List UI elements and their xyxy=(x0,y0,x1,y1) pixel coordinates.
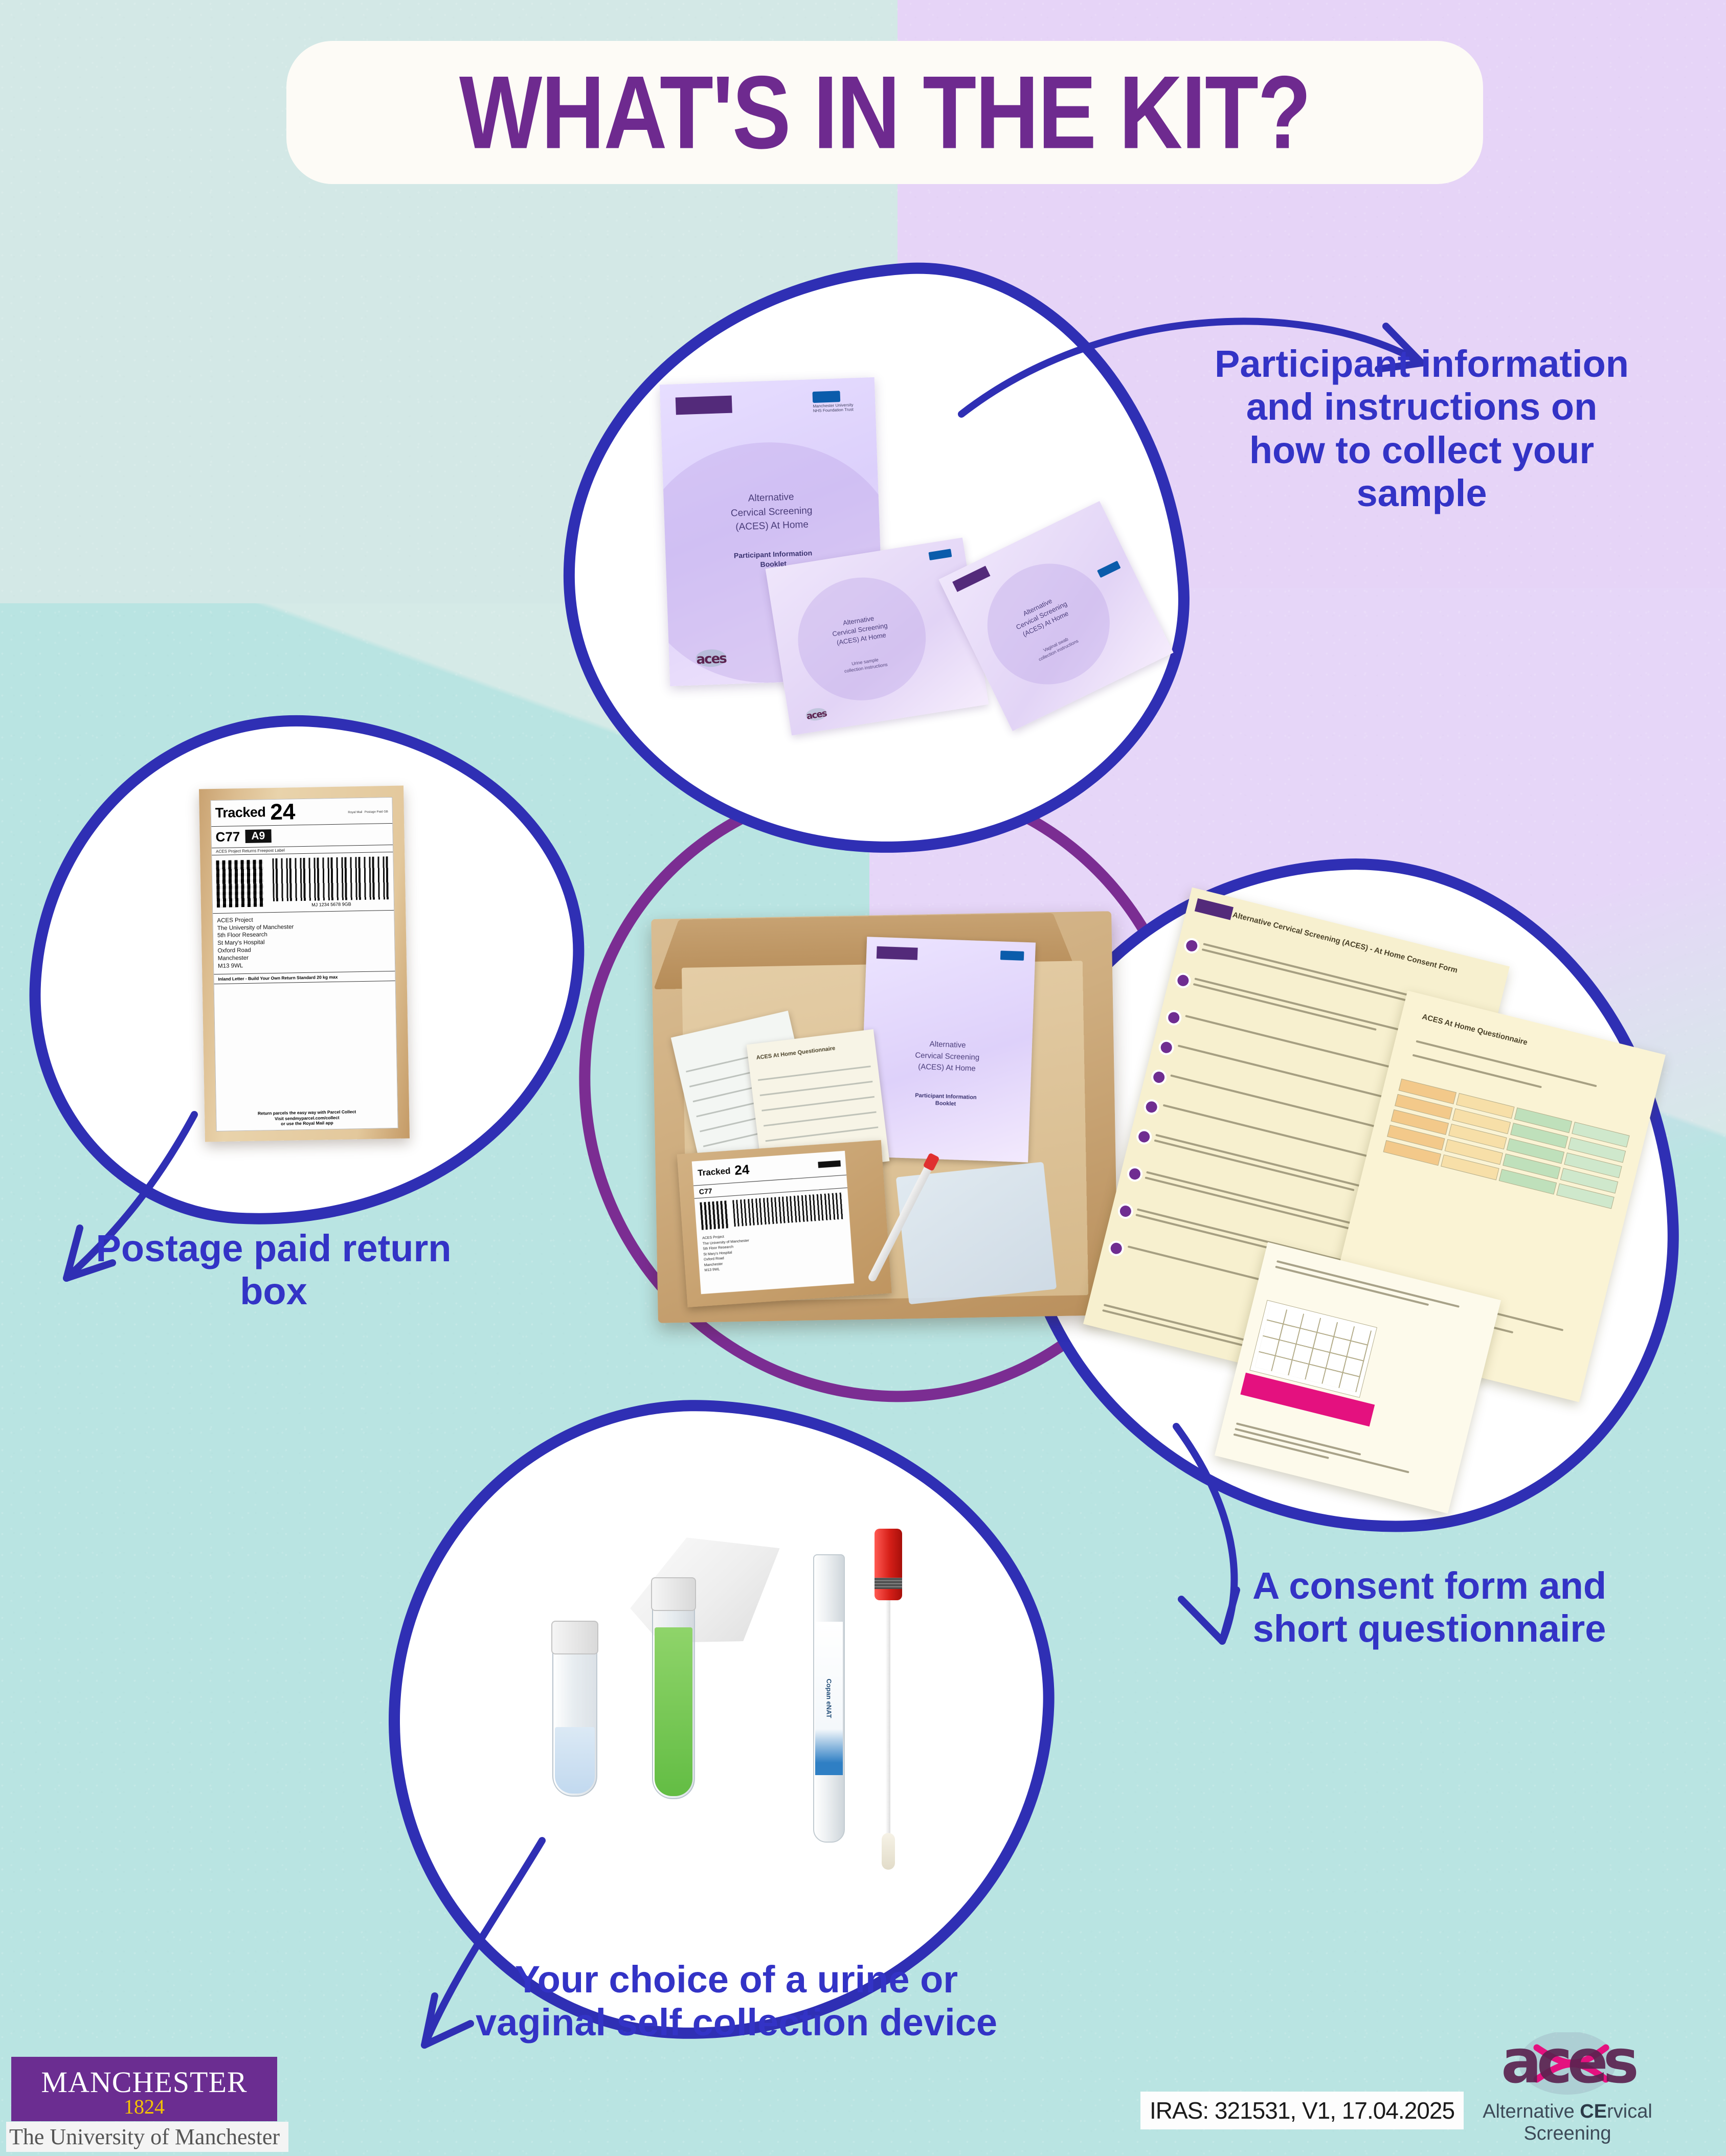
consent-checkbox-icon[interactable] xyxy=(1128,1167,1142,1181)
booklet-title: Alternative Cervical Screening (ACES) At… xyxy=(663,487,880,537)
iras-reference: IRAS: 321531, V1, 17.04.2025 xyxy=(1140,2092,1464,2129)
caption-collection-device: Your choice of a urine or vaginal self c… xyxy=(450,1958,1023,2045)
swab-red-cap xyxy=(875,1529,902,1600)
manchester-logo-icon xyxy=(877,946,918,960)
postage-paid-return-box: Tracked 24 Royal Mail Postage Paid GB C7… xyxy=(199,786,410,1142)
manchester-logo-icon xyxy=(1195,898,1234,920)
consent-checkbox-icon[interactable] xyxy=(1109,1241,1123,1255)
page-title: WHAT'S IN THE KIT? xyxy=(459,53,1310,172)
swab-tube-label: Copan eNAT xyxy=(815,1622,843,1775)
university-of-manchester-logo: MANCHESTER 1824 xyxy=(11,2057,277,2121)
kit-booklet: Alternative Cervical Screening (ACES) At… xyxy=(859,937,1036,1162)
aces-logo-icon: aces xyxy=(797,704,836,727)
svg-text:aces: aces xyxy=(1501,2032,1637,2097)
label-address: ACES Project The University of Mancheste… xyxy=(213,911,395,975)
aces-logo: aces Alternative CErvical Screening xyxy=(1440,2032,1695,2150)
aces-tagline-line2: Screening xyxy=(1440,2123,1695,2145)
tube-cap-icon xyxy=(551,1621,598,1654)
university-name: The University of Manchester xyxy=(6,2122,288,2152)
collection-devices-photo: Copan eNAT xyxy=(542,1467,931,1871)
consent-checkbox-icon[interactable] xyxy=(1152,1071,1166,1084)
caption-consent-questionnaire: A consent form and short questionnaire xyxy=(1217,1564,1642,1651)
caption-postage-return-box: Postage paid return box xyxy=(72,1227,476,1313)
tube-cap-icon xyxy=(651,1577,696,1611)
label-footer: Return parcels the easy way with Parcel … xyxy=(216,1108,398,1128)
barcode-icon xyxy=(272,856,389,901)
barcode-icon xyxy=(732,1192,844,1227)
aces-tagline-line1: Alternative CErvical xyxy=(1440,2101,1695,2123)
preservative-transport-tube xyxy=(652,1577,695,1799)
consent-checkbox-icon[interactable] xyxy=(1159,1040,1173,1054)
urine-collection-tube xyxy=(552,1621,597,1797)
aces-logo-icon: aces xyxy=(686,647,736,672)
nhs-logo-icon: Manchester University NHS Foundation Tru… xyxy=(812,390,862,405)
caption-participant-information: Participant information and instructions… xyxy=(1212,343,1631,515)
consent-checkbox-icon[interactable] xyxy=(1137,1130,1151,1144)
open-kit-box-photo: Alternative Cervical Screening (ACES) At… xyxy=(651,911,1118,1323)
consent-checkbox-icon[interactable] xyxy=(1145,1100,1158,1114)
consent-checkbox-icon[interactable] xyxy=(1167,1011,1181,1025)
datamatrix-code-icon xyxy=(216,859,264,907)
urine-collection-funnel xyxy=(625,1531,786,1649)
swab-transport-tube: Copan eNAT xyxy=(813,1554,845,1843)
label-codes-row: MJ 1234 5678 9GB xyxy=(212,852,394,914)
title-banner: WHAT'S IN THE KIT? xyxy=(286,41,1483,184)
royal-mail-shipping-label: Tracked 24 Royal Mail Postage Paid GB C7… xyxy=(210,797,398,1131)
label-route-row: C77 A9 xyxy=(211,824,393,848)
questionnaire-table xyxy=(1382,1079,1630,1213)
consent-checkbox-icon[interactable] xyxy=(1176,973,1190,987)
urine-collection-leaflet: Alternative Cervical Screening (ACES) At… xyxy=(766,538,989,736)
nhs-logo-icon xyxy=(1000,950,1024,961)
svg-text:aces: aces xyxy=(806,709,828,722)
datamatrix-code-icon xyxy=(700,1200,729,1230)
swab-tip xyxy=(882,1833,895,1870)
consent-checkbox-icon[interactable] xyxy=(1185,939,1199,953)
manchester-logo-icon xyxy=(676,396,732,415)
kit-return-label: Tracked 24 C77 ACES Project The Universi… xyxy=(692,1151,854,1294)
kit-return-box: Tracked 24 C77 ACES Project The Universi… xyxy=(677,1140,892,1307)
label-service-row: Tracked 24 Royal Mail Postage Paid GB xyxy=(211,798,392,827)
aces-logo-icon: aces xyxy=(1440,2032,1695,2099)
royal-mail-mark-icon: Royal Mail Postage Paid GB xyxy=(348,806,388,815)
svg-text:aces: aces xyxy=(696,651,727,667)
consent-checkbox-icon[interactable] xyxy=(1119,1205,1133,1218)
